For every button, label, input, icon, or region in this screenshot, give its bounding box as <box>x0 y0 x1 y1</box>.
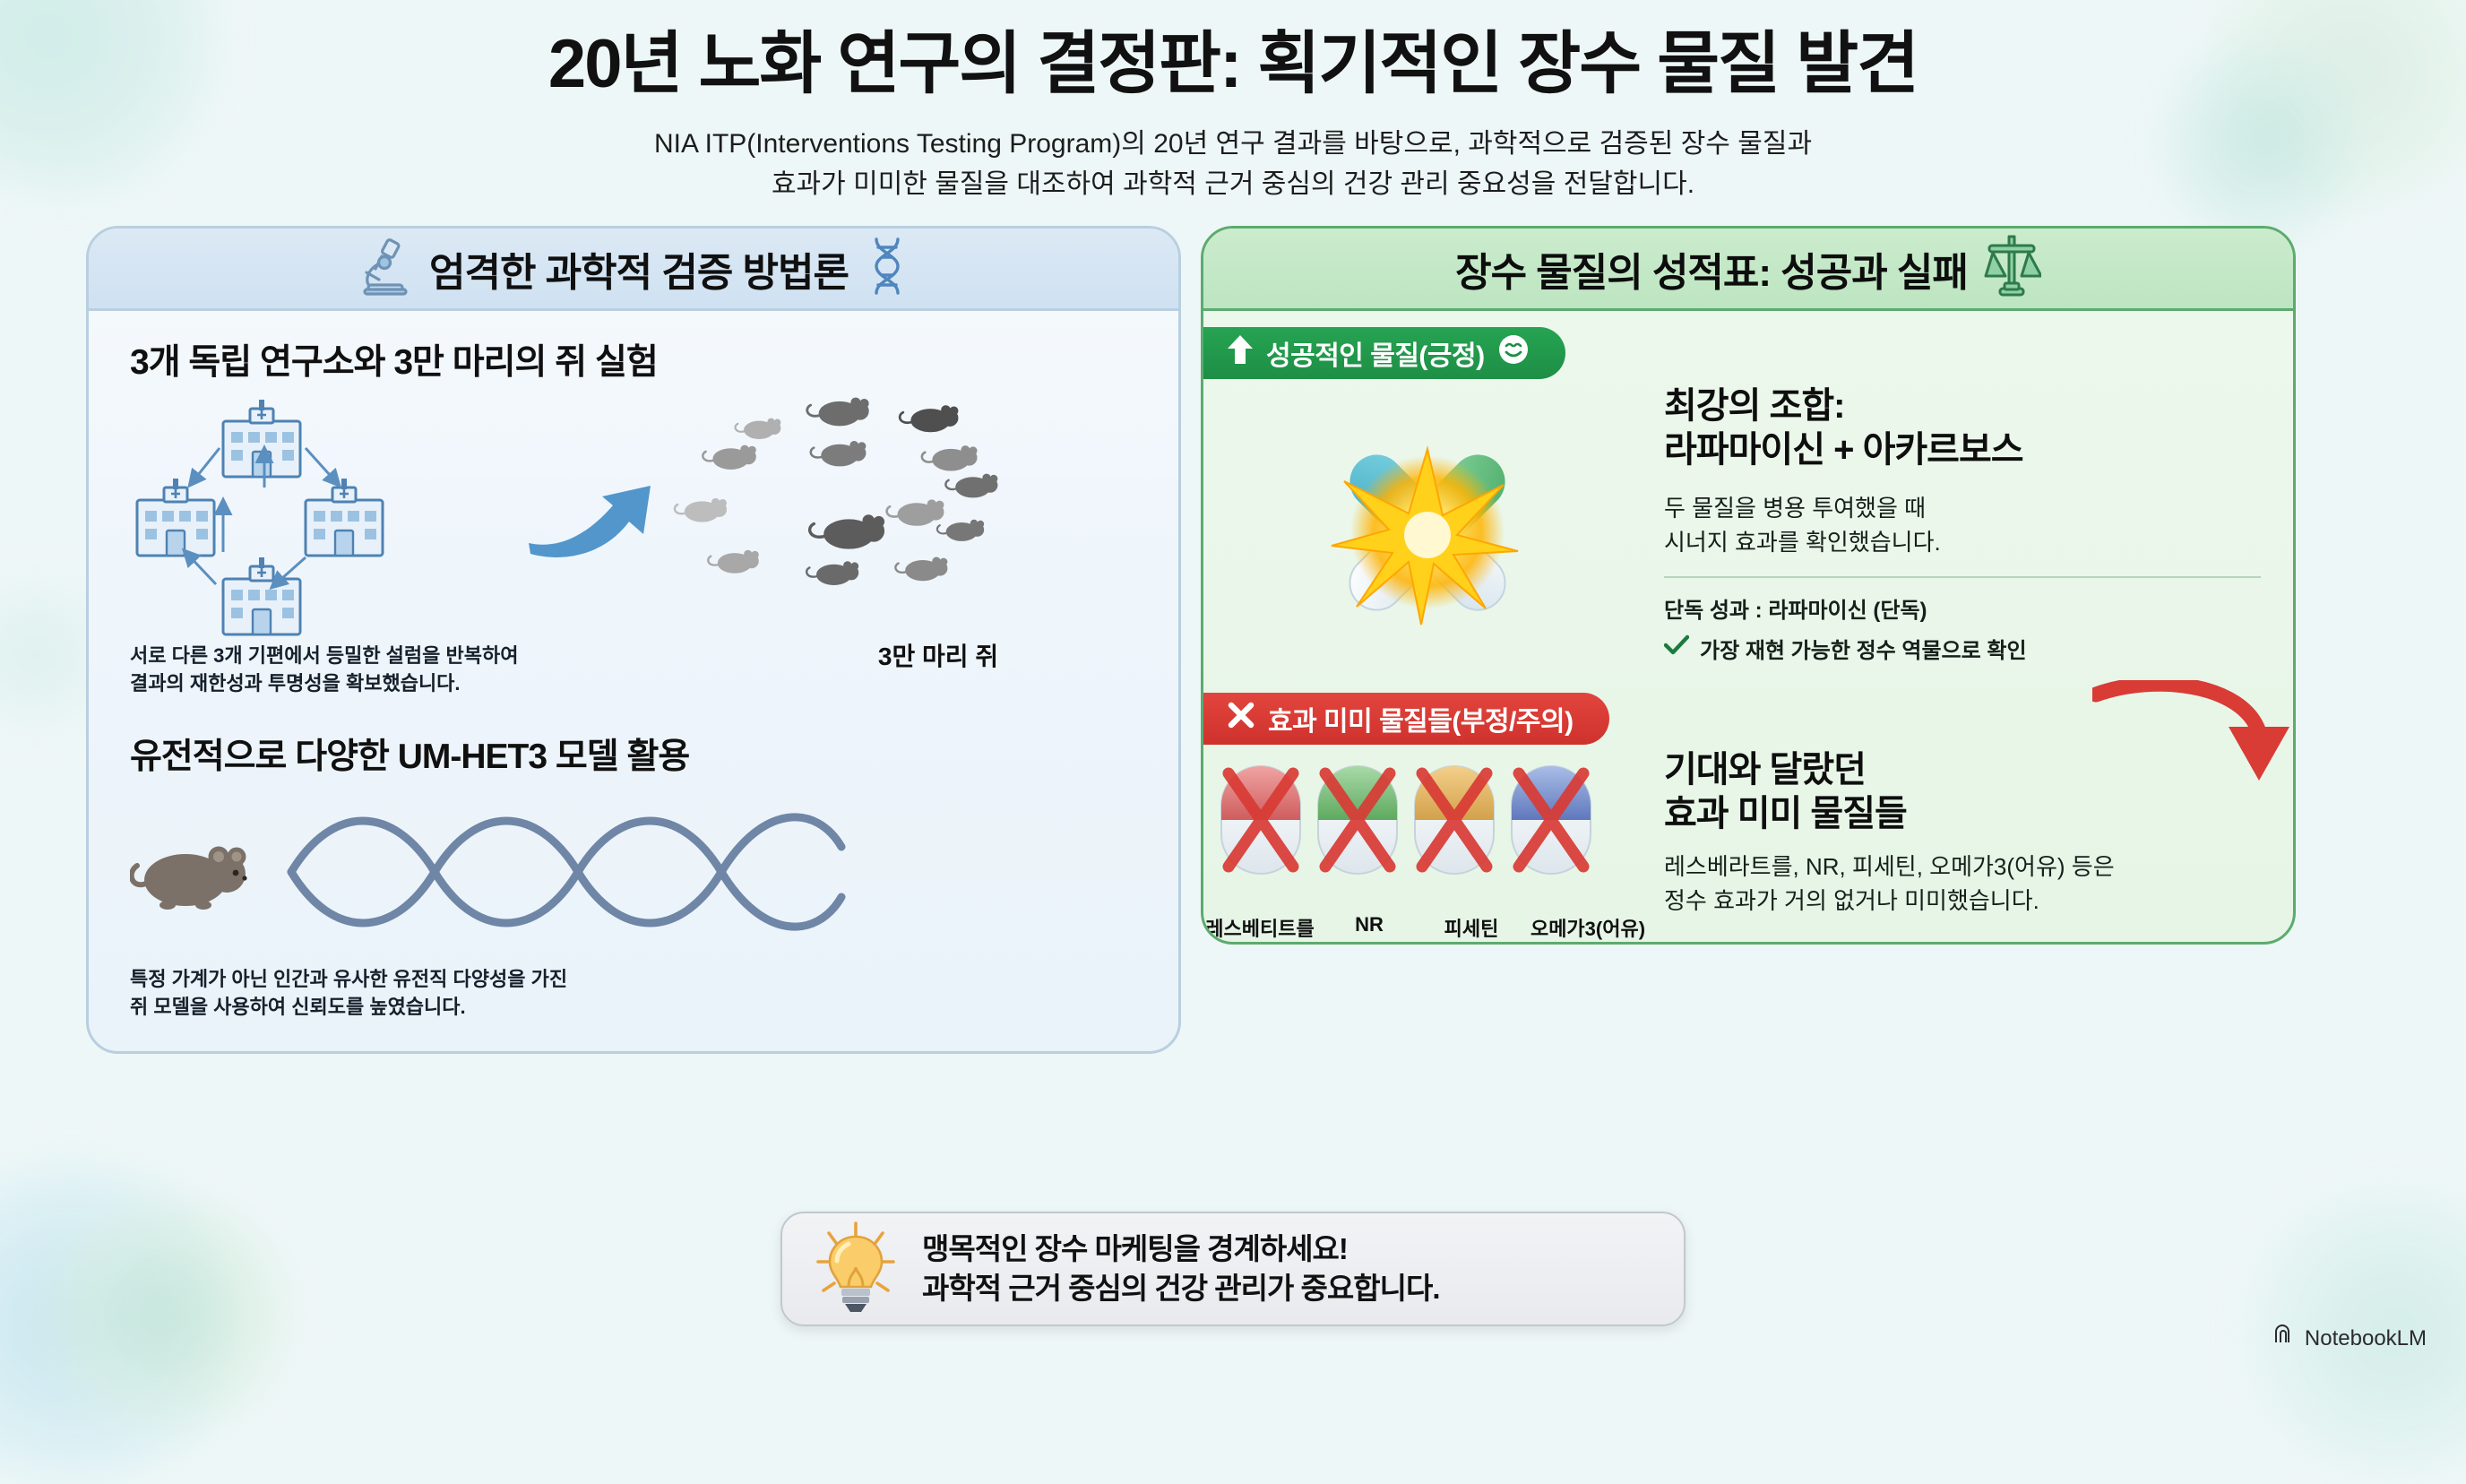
umhet3-caption: 특정 가계가 아닌 인간과 유사한 유전직 다양성을 가진 쥐 모델을 사용하여… <box>130 966 1137 1022</box>
scorecard-panel-title: 장수 물질의 성적표: 성공과 실패 <box>1455 240 1968 298</box>
umhet3-caption-line-1: 특정 가계가 아닌 인간과 유사한 유전직 다양성을 가진 <box>130 966 1137 994</box>
labs-caption: 서로 다른 3개 기편에서 등밀한 설럼을 반복하여 결과의 재한성과 투명성을… <box>130 643 703 698</box>
up-arrow-icon <box>1227 334 1254 372</box>
methodology-panel-body: 3개 독립 연구소와 3만 마리의 쥐 실험 <box>89 311 1178 1051</box>
positive-text-column: 최강의 조합: 라파마이신 + 아카르보스 두 물질을 병용 투여했을 때 시너… <box>1664 384 2293 680</box>
methodology-panel-title: 엄격한 과학적 검증 방법론 <box>429 240 849 298</box>
best-combo-title-line-2: 라파마이신 + 아카르보스 <box>1664 428 2261 472</box>
lightbulb-icon <box>813 1221 899 1318</box>
x-mark-icon <box>1227 701 1255 737</box>
failed-compound-labels: 레스베티트를 NR 피세틴 오메가3(어유) <box>1204 913 1651 942</box>
umhet3-caption-line-2: 쥐 모델을 사용하여 신뢰도를 높였습니다. <box>130 994 1137 1022</box>
red-down-arrow-icon <box>2092 680 2296 801</box>
background-blob-bottom-left-2 <box>36 1197 305 1430</box>
failed-compounds-illustration: 레스베티트를 NR 피세틴 오메가3(어유) <box>1203 748 1651 942</box>
bottom-callout: 맹목적인 장수 마케팅을 경계하세요! 과학적 근거 중심의 건강 관리가 중요… <box>780 1212 1686 1326</box>
dna-helix-icon <box>865 236 910 301</box>
methodology-panel-header: 엄격한 과학적 검증 방법론 <box>89 229 1178 311</box>
dna-double-helix-icon <box>279 791 852 957</box>
negative-content-row: 레스베티트를 NR 피세틴 오메가3(어유) 기대와 달랐던 효과 미미 물질들 <box>1203 748 2293 942</box>
failed-compounds-body: 레스베라트를, NR, 피세틴, 오메가3(어유) 등은 정수 효과가 거의 없… <box>1664 850 2261 919</box>
microscope-icon <box>358 237 413 300</box>
compound-label-3: 오메가3(어유) <box>1525 913 1651 942</box>
labs-caption-line-1: 서로 다른 3개 기편에서 등밀한 설럼을 반복하여 <box>130 643 703 670</box>
mice-population-illustration <box>668 390 1089 650</box>
scorecard-panel-header: 장수 물질의 성적표: 성공과 실패 <box>1203 229 2293 311</box>
divider <box>1664 576 2261 578</box>
balance-scale-icon <box>1982 233 2041 304</box>
section-title-umhet3: 유전적으로 다양한 UM-HET3 모델 활용 <box>130 729 1137 779</box>
compound-label-0: 레스베티트를 <box>1204 913 1315 942</box>
panels-container: 엄격한 과학적 검증 방법론 3개 독립 연구소와 3만 마리의 쥐 실험 <box>0 204 2466 1054</box>
page-title: 20년 노화 연구의 결정판: 획기적인 장수 물질 발견 <box>0 25 2466 104</box>
subtitle-line-1: NIA ITP(Interventions Testing Program)의 … <box>0 124 2466 164</box>
page-subtitle: NIA ITP(Interventions Testing Program)의 … <box>0 124 2466 204</box>
compound-label-1: NR <box>1321 913 1418 942</box>
watermark-label: NotebookLM <box>2305 1326 2427 1351</box>
smiley-face-icon <box>1497 333 1530 373</box>
solo-result-label: 단독 성과 : 라파마이신 (단독) <box>1664 592 2261 624</box>
callout-text: 맹목적인 장수 마케팅을 경계하세요! 과학적 근거 중심의 건강 관리가 중요… <box>922 1229 1440 1307</box>
solo-result-check-row: 가장 재현 가능한 정수 역물으로 확인 <box>1664 633 2261 664</box>
labs-caption-line-2: 결과의 재한성과 투명성을 확보했습니다. <box>130 670 703 698</box>
flow-arrow-icon <box>515 466 668 574</box>
section-title-labs: 3개 독립 연구소와 3만 마리의 쥐 실험 <box>130 334 1137 384</box>
negative-badge: 효과 미미 물질들(부정/주의) <box>1203 693 1609 745</box>
independent-labs-diagram <box>130 394 515 645</box>
background-blob-bottom-left-1 <box>0 1161 260 1484</box>
failed-compounds-body-line-1: 레스베라트를, NR, 피세틴, 오메가3(어유) 등은 <box>1664 850 2261 884</box>
callout-line-1: 맹목적인 장수 마케팅을 경계하세요! <box>922 1229 1440 1269</box>
scorecard-panel: 장수 물질의 성적표: 성공과 실패 성공적인 <box>1201 226 2296 945</box>
best-combo-title-line-1: 최강의 조합: <box>1664 384 2261 428</box>
notebooklm-logo-icon <box>2272 1324 2296 1353</box>
best-combo-body-line-2: 시너지 효과를 확인했습니다. <box>1664 526 2261 560</box>
failed-compounds-body-line-2: 정수 효과가 거의 없거나 미미했습니다. <box>1664 884 2261 919</box>
positive-badge-label: 성공적인 물질(긍정) <box>1266 333 1485 373</box>
synergy-pills-illustration <box>1203 384 1651 680</box>
methodology-panel: 엄격한 과학적 검증 방법론 3개 독립 연구소와 3만 마리의 쥐 실험 <box>86 226 1181 1054</box>
check-mark-icon <box>1664 634 1689 662</box>
positive-badge: 성공적인 물질(긍정) <box>1203 327 1565 379</box>
page-header: 20년 노화 연구의 결정판: 획기적인 장수 물질 발견 NIA ITP(In… <box>0 0 2466 204</box>
best-combo-body-line-1: 두 물질을 병용 투여했을 때 <box>1664 492 2261 526</box>
mouse-icon <box>130 824 255 924</box>
best-combo-body: 두 물질을 병용 투여했을 때 시너지 효과를 확인했습니다. <box>1664 492 2261 560</box>
negative-text-column: 기대와 달랐던 효과 미미 물질들 레스베라트를, NR, 피세틴, 오메가3(… <box>1664 748 2293 942</box>
subtitle-line-2: 효과가 미미한 물질을 대조하여 과학적 근거 중심의 건강 관리 중요성을 전… <box>0 164 2466 204</box>
callout-line-2: 과학적 근거 중심의 건강 관리가 중요합니다. <box>922 1269 1440 1308</box>
best-combo-title: 최강의 조합: 라파마이신 + 아카르보스 <box>1664 384 2261 472</box>
notebooklm-watermark: NotebookLM <box>2272 1324 2427 1353</box>
labs-and-mice-row <box>130 390 1137 650</box>
compound-label-2: 피세틴 <box>1423 913 1520 942</box>
negative-badge-label: 효과 미미 물질들(부정/주의) <box>1268 699 1574 738</box>
umhet3-illustration-row <box>130 791 1137 957</box>
positive-content-row: 최강의 조합: 라파마이신 + 아카르보스 두 물질을 병용 투여했을 때 시너… <box>1203 384 2293 680</box>
solo-result-check-text: 가장 재현 가능한 정수 역물으로 확인 <box>1700 633 2027 664</box>
